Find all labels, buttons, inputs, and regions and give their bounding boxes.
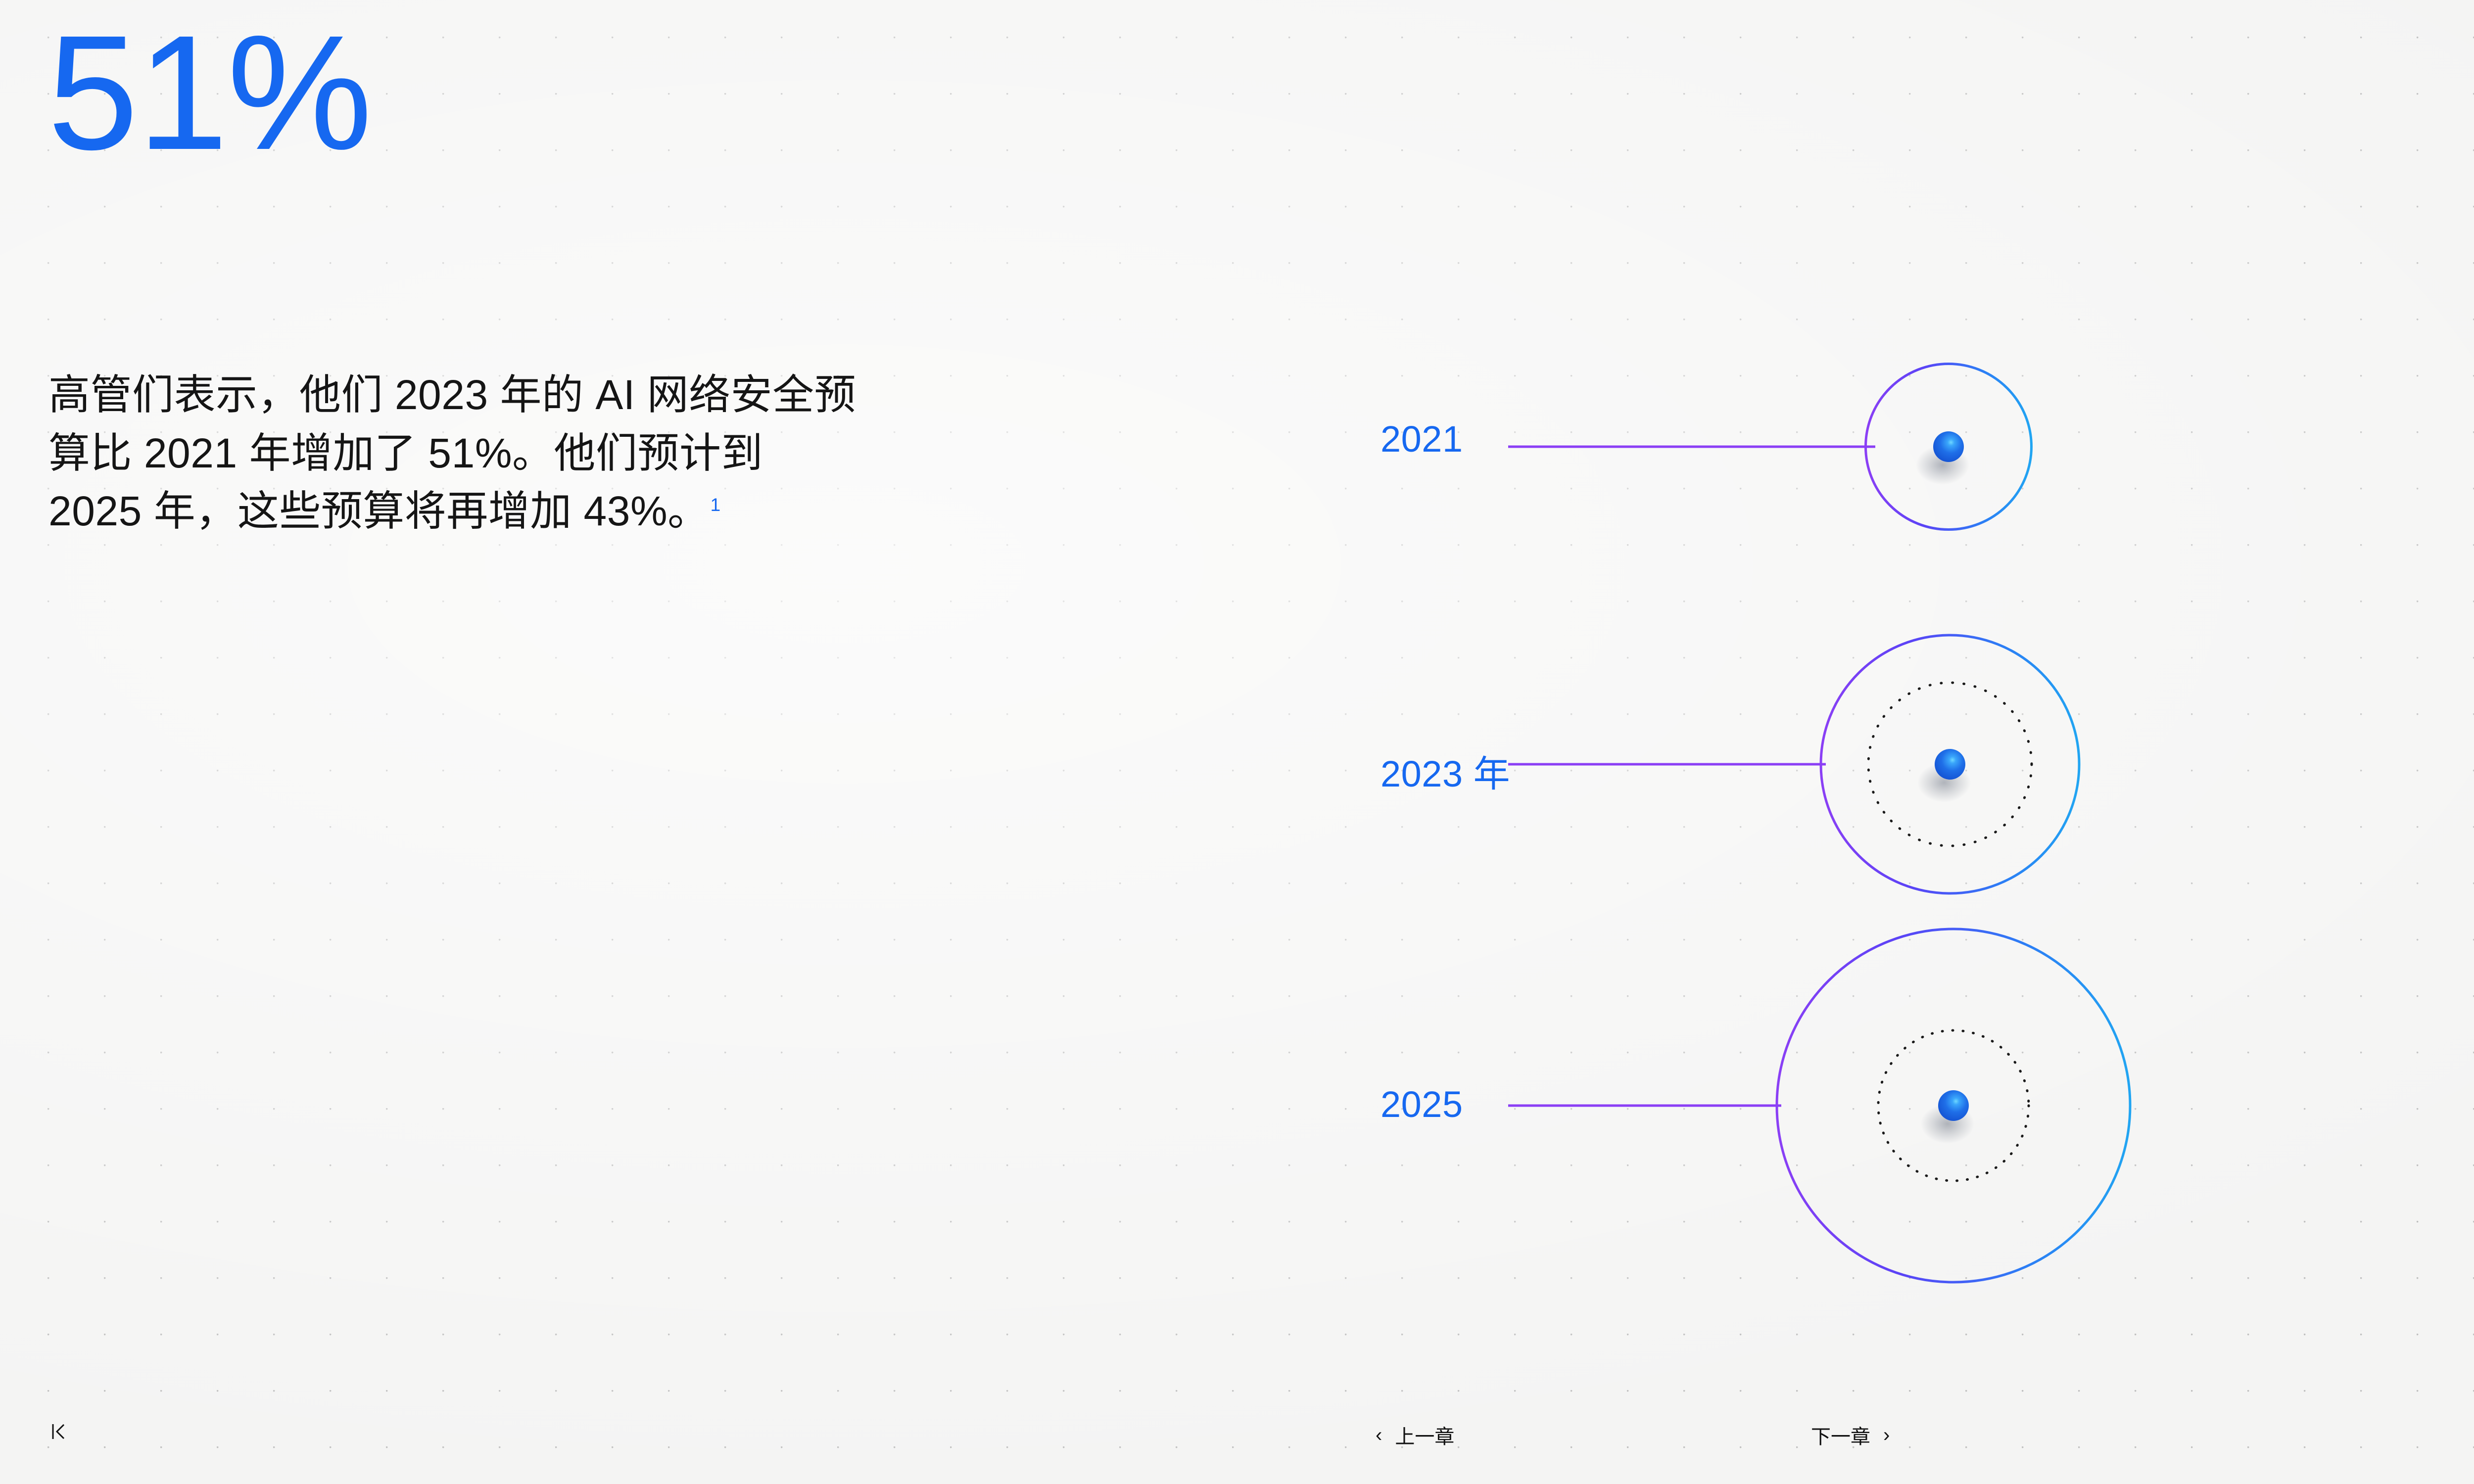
bubble-group-2021 — [1508, 364, 2032, 530]
bubble-marker-2025 — [1938, 1090, 1969, 1121]
bubble-label-2021: 2021 — [1380, 418, 1463, 460]
chevron-right-icon[interactable]: › — [1883, 1425, 1890, 1445]
bubble-chart: 2021 2023 年 2025 — [0, 0, 2474, 1484]
first-page-button[interactable] — [49, 1421, 82, 1442]
bubble-group-2025 — [1508, 929, 2130, 1282]
skip-to-first-icon[interactable] — [49, 1421, 69, 1442]
previous-chapter-label: 上一章 — [1395, 1421, 1454, 1449]
bubble-label-2025: 2025 — [1380, 1083, 1463, 1125]
chevron-left-icon[interactable]: ‹ — [1376, 1425, 1382, 1445]
previous-chapter-button[interactable]: ‹ 上一章 — [1376, 1421, 1454, 1449]
footer-navigation: ‹ 上一章 下一章 › 8 — [0, 1390, 2474, 1484]
bubble-label-2023: 2023 年 — [1380, 744, 1510, 797]
slide-canvas: 51% 高管们表示，他们 2023 年的 AI 网络安全预算比 2021 年增加… — [0, 0, 2474, 1484]
next-chapter-label: 下一章 — [1811, 1421, 1870, 1449]
next-chapter-button[interactable]: 下一章 › — [1811, 1421, 1890, 1449]
bubble-group-2023 — [1508, 635, 2079, 893]
bubble-marker-2023 — [1935, 749, 1965, 780]
bubble-marker-2021 — [1933, 431, 1964, 462]
